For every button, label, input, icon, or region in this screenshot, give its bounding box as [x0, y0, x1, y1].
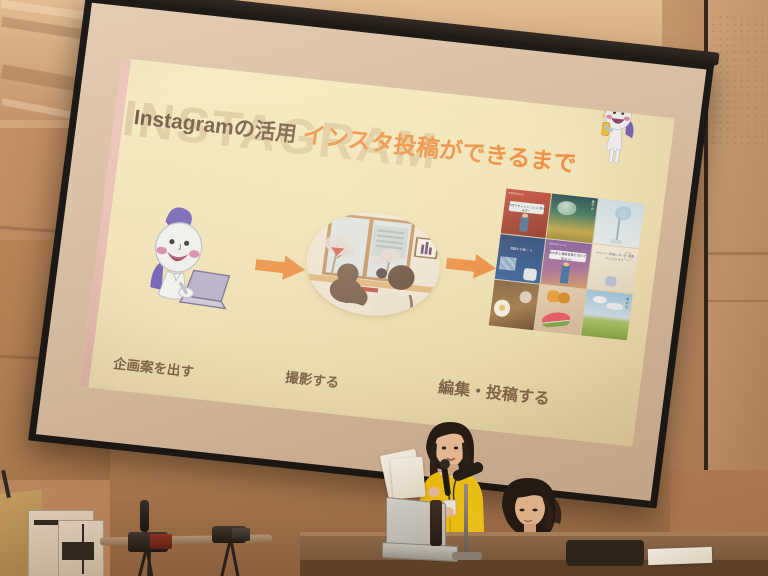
instagram-grid-icon: 市内のおみせ 市内でキャッシュレス 使えます！ 夏のの [488, 188, 644, 339]
video-camera-right [210, 518, 262, 576]
ig-cell: 市内のおみせ 市内でキャッシュレス 使えます！ [500, 188, 551, 238]
tripod-leg [219, 543, 230, 576]
step-caption-2: 撮影する [284, 365, 340, 391]
ig-cell-caption: 就職ナビ進～ う [501, 245, 542, 253]
photo-circle-icon [300, 206, 446, 323]
ig-cell-caption: 夏 の 空 [625, 297, 630, 310]
projection-screen: INSTAGRAM Instagramの活用インスタ投稿ができるまで 市民生活部… [28, 0, 714, 509]
screenshot-root: INSTAGRAM Instagramの活用インスタ投稿ができるまで 市民生活部… [0, 0, 768, 576]
ig-cell [488, 280, 539, 330]
mic-base [452, 552, 482, 560]
ig-cell: イベント 読書レポート 図書ブッククラブ [587, 244, 638, 294]
ig-cell-badge: 市内のおしごと [549, 242, 568, 248]
tripod-leg [135, 552, 147, 576]
laptop-on-table [382, 500, 456, 562]
topbar-item-2: 報 [348, 61, 358, 71]
slide-topbars: 市民生活部 広 報 秘書広報課 [312, 58, 383, 73]
wall-seam-right-1 [706, 252, 768, 255]
ig-cell [535, 285, 586, 335]
screen-surface: INSTAGRAM Instagramの活用インスタ投稿ができるまで 市民生活部… [36, 3, 707, 501]
arrow-step-1-to-2-icon [253, 251, 306, 284]
ig-cell [593, 199, 644, 249]
tripod-leg [230, 543, 240, 576]
ig-cell: 夏のの [547, 194, 598, 244]
arrow-step-2-to-3-icon [444, 250, 497, 283]
mascot-with-laptop-icon [118, 196, 259, 316]
presentation-slide: INSTAGRAM Instagramの活用インスタ投稿ができるまで 市民生活部… [79, 58, 675, 446]
ig-cell: 市内のおしごと 新大学と連携事業で 知って学ぼう！ [541, 239, 592, 289]
camera-lens-right [232, 528, 250, 541]
topbar-item-1: 広 [337, 60, 347, 70]
shotgun-mic-icon [140, 500, 149, 532]
ig-cell-badge: 市内のおみせ [508, 191, 524, 197]
topbar-item-3: 秘書広報課 [359, 63, 383, 74]
video-camera-front [124, 508, 180, 576]
mascot-with-phone-icon [570, 85, 664, 183]
av-rack-2-screen [62, 542, 94, 560]
acoustic-panel [710, 14, 768, 144]
table-bag [566, 540, 644, 566]
camera-lens-front [150, 534, 172, 549]
step-caption-1: 企画案を出す [112, 352, 195, 381]
laptop-base [382, 542, 458, 562]
water-bottle [430, 500, 442, 546]
topbar-item-0: 市民生活部 [312, 58, 336, 68]
microphone-on-stand [464, 484, 468, 560]
table-paper [648, 547, 713, 565]
av-cable [82, 524, 84, 574]
paper-sheet-2 [390, 457, 425, 500]
ig-cell: 就職ナビ進～ う [494, 234, 545, 284]
ig-cell: 夏 の 空 [581, 290, 632, 340]
wall-seam-right-2 [706, 300, 768, 302]
